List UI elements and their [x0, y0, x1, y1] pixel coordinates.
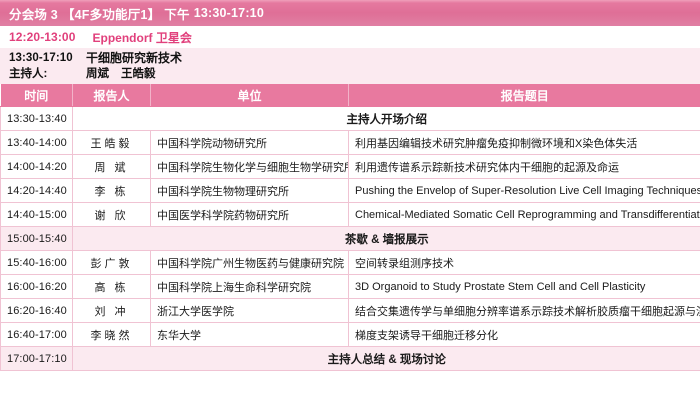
- cell-organization: 浙江大学医学院: [151, 299, 349, 323]
- cell-organization: 中国科学院动物研究所: [151, 131, 349, 155]
- cell-organization: 中国科学院生物化学与细胞生物学研究所: [151, 155, 349, 179]
- cell-time: 15:00-15:40: [1, 227, 73, 251]
- host-label: 主持人:: [9, 66, 86, 82]
- cell-speaker: 李晓然: [73, 323, 151, 347]
- table-row-special: 13:30-13:40主持人开场介绍: [1, 107, 700, 131]
- cell-special-text: 主持人总结 & 现场讨论: [73, 347, 700, 371]
- cell-organization: 东华大学: [151, 323, 349, 347]
- cell-time: 17:00-17:10: [1, 347, 73, 371]
- column-header-speaker: 报告人: [73, 84, 151, 107]
- table-row: 13:40-14:00王皓毅中国科学院动物研究所利用基因编辑技术研究肿瘤免疫抑制…: [1, 131, 700, 155]
- topic-title: 干细胞研究新技术: [86, 50, 182, 66]
- table-row-special: 17:00-17:10主持人总结 & 现场讨论: [1, 347, 700, 371]
- cell-time: 16:20-16:40: [1, 299, 73, 323]
- cell-talk-title: 3D Organoid to Study Prostate Stem Cell …: [349, 275, 700, 299]
- banner-period-label: 下午: [164, 4, 189, 23]
- cell-talk-title: Pushing the Envelop of Super-Resolution …: [349, 179, 700, 203]
- column-header-organization: 单位: [151, 84, 349, 107]
- table-row-special: 15:00-15:40茶歇 & 墙报展示: [1, 227, 700, 251]
- schedule-table: 时间 报告人 单位 报告题目 13:30-13:40主持人开场介绍13:40-1…: [0, 84, 700, 371]
- cell-talk-title: 结合交集遗传学与单细胞分辨率谱系示踪技术解析胶质瘤干细胞起源与演化路径: [349, 299, 700, 323]
- host-names: 周斌王皓毅: [86, 66, 156, 82]
- topic-host-line: 主持人: 周斌王皓毅: [9, 66, 700, 82]
- column-header-time: 时间: [1, 84, 73, 107]
- cell-organization: 中国医学科学院药物研究所: [151, 203, 349, 227]
- table-row: 14:40-15:00谢 欣中国医学科学院药物研究所Chemical-Media…: [1, 203, 700, 227]
- table-row: 16:40-17:00李晓然东华大学梯度支架诱导干细胞迁移分化: [1, 323, 700, 347]
- cell-time: 14:00-14:20: [1, 155, 73, 179]
- cell-special-text: 茶歇 & 墙报展示: [73, 227, 700, 251]
- cell-time: 15:40-16:00: [1, 251, 73, 275]
- satellite-name: Eppendorf 卫星会: [92, 29, 191, 46]
- cell-speaker: 高 栋: [73, 275, 151, 299]
- cell-special-text: 主持人开场介绍: [73, 107, 700, 131]
- cell-talk-title: 梯度支架诱导干细胞迁移分化: [349, 323, 700, 347]
- cell-speaker: 刘 冲: [73, 299, 151, 323]
- cell-speaker: 周 斌: [73, 155, 151, 179]
- table-header-row: 时间 报告人 单位 报告题目: [1, 84, 700, 107]
- satellite-time: 12:20-13:00: [9, 30, 75, 44]
- table-row: 16:00-16:20高 栋中国科学院上海生命科学研究院3D Organoid …: [1, 275, 700, 299]
- cell-organization: 中国科学院上海生命科学研究院: [151, 275, 349, 299]
- host-name-2: 王皓毅: [121, 68, 156, 80]
- banner-venue-label: 【4F多功能厅1】: [62, 4, 160, 23]
- table-row: 15:40-16:00彭广敦中国科学院广州生物医药与健康研究院空间转录组测序技术: [1, 251, 700, 275]
- banner-session-label: 分会场 3: [9, 4, 58, 23]
- cell-time: 16:40-17:00: [1, 323, 73, 347]
- topic-block: 13:30-17:10 干细胞研究新技术 主持人: 周斌王皓毅: [0, 48, 700, 84]
- cell-time: 14:20-14:40: [1, 179, 73, 203]
- host-name-1: 周斌: [86, 68, 109, 80]
- cell-time: 16:00-16:20: [1, 275, 73, 299]
- table-row: 14:20-14:40李 栋中国科学院生物物理研究所Pushing the En…: [1, 179, 700, 203]
- cell-speaker: 彭广敦: [73, 251, 151, 275]
- session-banner: 分会场 3 【4F多功能厅1】 下午 13:30-17:10: [0, 0, 700, 26]
- cell-organization: 中国科学院广州生物医药与健康研究院: [151, 251, 349, 275]
- cell-organization: 中国科学院生物物理研究所: [151, 179, 349, 203]
- cell-talk-title: 空间转录组测序技术: [349, 251, 700, 275]
- cell-time: 13:30-13:40: [1, 107, 73, 131]
- satellite-meeting-row: 12:20-13:00 Eppendorf 卫星会: [0, 26, 700, 48]
- banner-time-label: 13:30-17:10: [194, 6, 264, 20]
- table-row: 16:20-16:40刘 冲浙江大学医学院结合交集遗传学与单细胞分辨率谱系示踪技…: [1, 299, 700, 323]
- cell-speaker: 王皓毅: [73, 131, 151, 155]
- column-header-title: 报告题目: [349, 84, 700, 107]
- cell-speaker: 谢 欣: [73, 203, 151, 227]
- cell-talk-title: Chemical-Mediated Somatic Cell Reprogram…: [349, 203, 700, 227]
- cell-time: 13:40-14:00: [1, 131, 73, 155]
- cell-time: 14:40-15:00: [1, 203, 73, 227]
- schedule-table-body: 13:30-13:40主持人开场介绍13:40-14:00王皓毅中国科学院动物研…: [1, 107, 700, 371]
- cell-talk-title: 利用基因编辑技术研究肿瘤免疫抑制微环境和X染色体失活: [349, 131, 700, 155]
- topic-title-line: 13:30-17:10 干细胞研究新技术: [9, 50, 700, 66]
- cell-speaker: 李 栋: [73, 179, 151, 203]
- topic-time: 13:30-17:10: [9, 50, 86, 66]
- table-row: 14:00-14:20周 斌中国科学院生物化学与细胞生物学研究所利用遗传谱系示踪…: [1, 155, 700, 179]
- cell-talk-title: 利用遗传谱系示踪新技术研究体内干细胞的起源及命运: [349, 155, 700, 179]
